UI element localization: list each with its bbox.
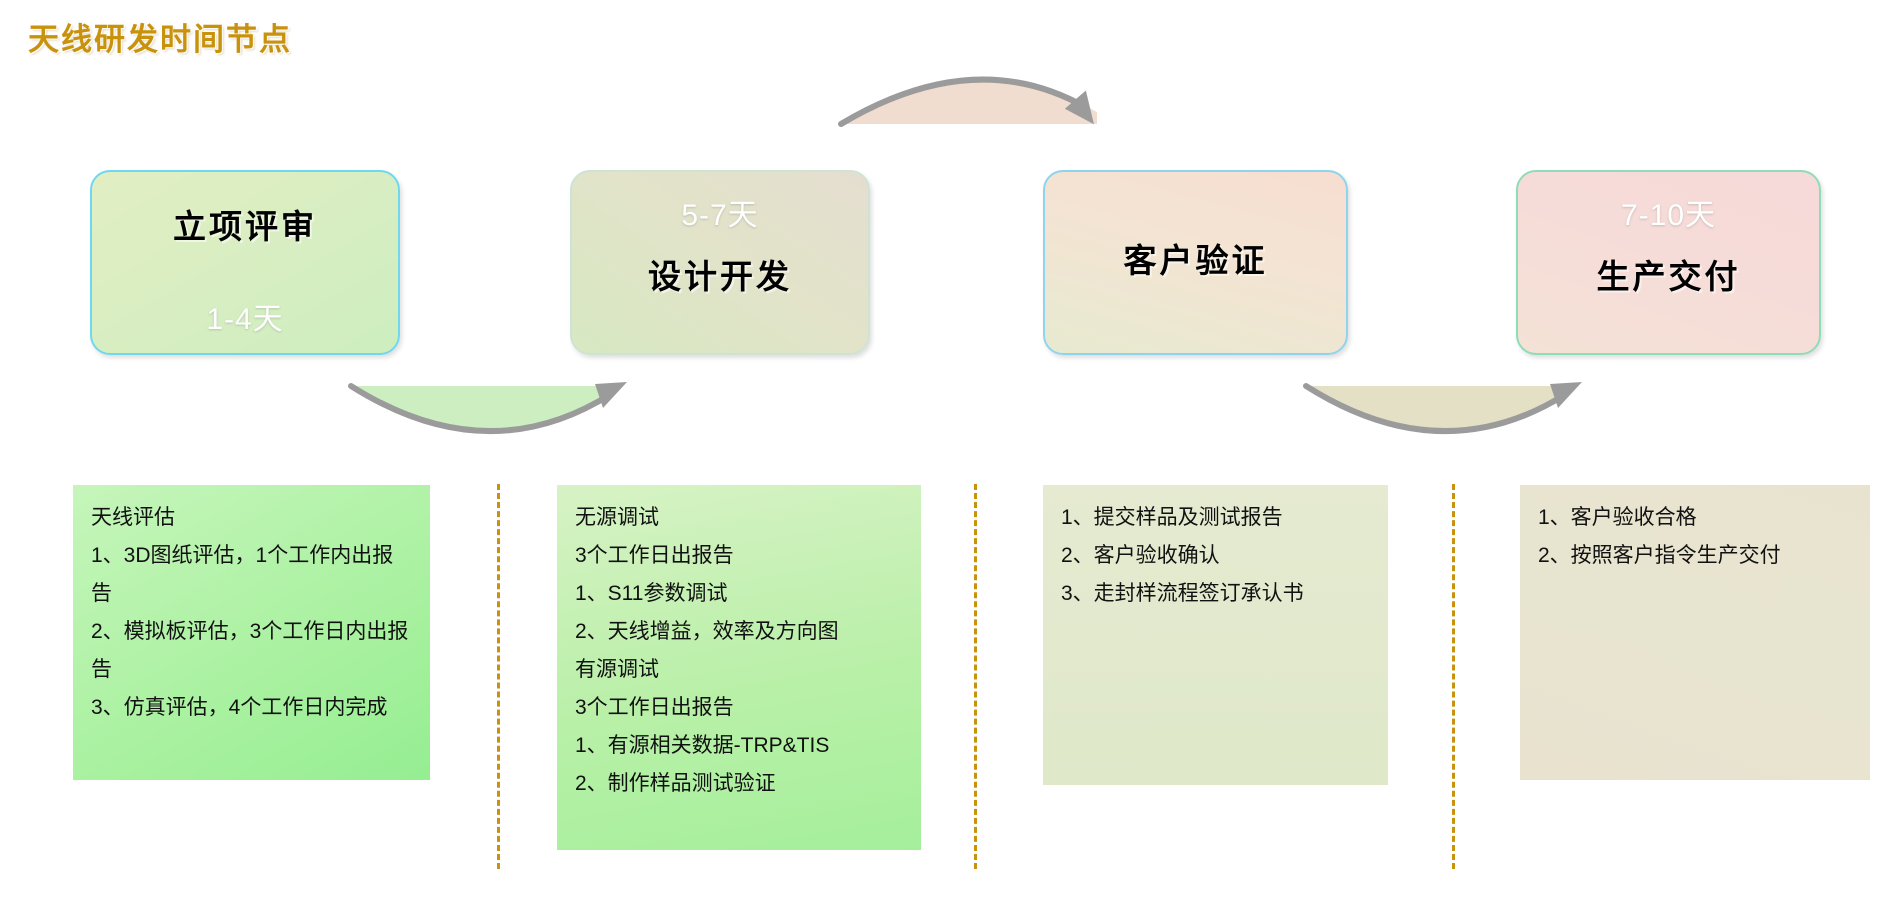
detail-line: 3、仿真评估，4个工作日内完成 <box>91 689 412 727</box>
detail-line: 无源调试 <box>575 499 903 537</box>
arc-arrow-up-icon <box>835 52 1115 132</box>
stage-box-3-heading: 客户验证 <box>1045 234 1346 282</box>
stage-box-1[interactable]: 立项评审 1-4天 <box>90 170 400 355</box>
stage-box-1-days: 1-4天 <box>92 294 398 338</box>
stage-box-4[interactable]: 7-10天 生产交付 <box>1516 170 1821 355</box>
divider-2 <box>974 484 977 869</box>
stage-box-4-days: 7-10天 <box>1518 190 1819 234</box>
detail-panel-1[interactable]: 天线评估 1、3D图纸评估，1个工作内出报告 2、模拟板评估，3个工作日内出报告… <box>73 485 430 780</box>
divider-3 <box>1452 484 1455 869</box>
detail-line: 2、客户验收确认 <box>1061 537 1370 575</box>
detail-line: 2、天线增益，效率及方向图 <box>575 613 903 651</box>
diagram-canvas: 天线研发时间节点 立项评审 1-4天 5-7天 设计开发 客户验证 7-10天 … <box>0 0 1897 900</box>
stage-box-1-heading: 立项评审 <box>92 200 398 248</box>
detail-line: 1、S11参数调试 <box>575 575 903 613</box>
stage-box-3[interactable]: 客户验证 <box>1043 170 1348 355</box>
detail-line: 1、有源相关数据-TRP&TIS <box>575 727 903 765</box>
detail-panel-2[interactable]: 无源调试 3个工作日出报告 1、S11参数调试 2、天线增益，效率及方向图 有源… <box>557 485 921 850</box>
detail-panel-3[interactable]: 1、提交样品及测试报告 2、客户验收确认 3、走封样流程签订承认书 <box>1043 485 1388 785</box>
arc-arrow-down-icon-2 <box>1300 380 1585 455</box>
detail-line: 1、3D图纸评估，1个工作内出报告 <box>91 537 412 613</box>
detail-line: 2、按照客户指令生产交付 <box>1538 537 1852 575</box>
detail-panel-4[interactable]: 1、客户验收合格 2、按照客户指令生产交付 <box>1520 485 1870 780</box>
stage-box-2[interactable]: 5-7天 设计开发 <box>570 170 870 355</box>
arc-arrow-down-icon-1 <box>345 380 630 455</box>
detail-line: 1、客户验收合格 <box>1538 499 1852 537</box>
stage-box-4-heading: 生产交付 <box>1518 250 1819 298</box>
detail-line: 3个工作日出报告 <box>575 537 903 575</box>
stage-box-2-heading: 设计开发 <box>572 250 868 298</box>
divider-1 <box>497 484 500 869</box>
page-title: 天线研发时间节点 <box>28 14 292 59</box>
detail-line: 1、提交样品及测试报告 <box>1061 499 1370 537</box>
detail-line: 3、走封样流程签订承认书 <box>1061 575 1370 613</box>
detail-line: 2、模拟板评估，3个工作日内出报告 <box>91 613 412 689</box>
detail-line: 天线评估 <box>91 499 412 537</box>
detail-line: 有源调试 <box>575 651 903 689</box>
detail-line: 3个工作日出报告 <box>575 689 903 727</box>
detail-line: 2、制作样品测试验证 <box>575 765 903 803</box>
stage-box-2-days: 5-7天 <box>572 190 868 234</box>
